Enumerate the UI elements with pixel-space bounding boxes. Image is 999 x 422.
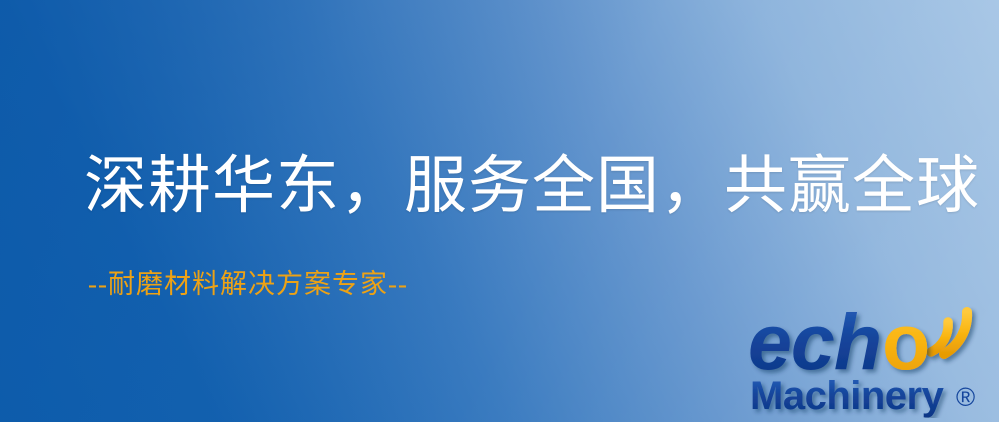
logo-wordmark-o: o (882, 297, 930, 386)
company-logo[interactable]: ech o Machinery ® (748, 296, 993, 418)
logo-registered-mark: ® (956, 382, 975, 412)
logo-wordmark-ech: ech (748, 297, 881, 386)
banner-headline: 深耕华东，服务全国，共赢全球 (84, 152, 980, 220)
signal-waves-icon (931, 312, 967, 354)
logo-tagline: Machinery (750, 374, 945, 418)
hero-banner: 深耕华东，服务全国，共赢全球 --耐磨材料解决方案专家-- (0, 0, 999, 422)
banner-subtitle: --耐磨材料解决方案专家-- (88, 268, 408, 300)
